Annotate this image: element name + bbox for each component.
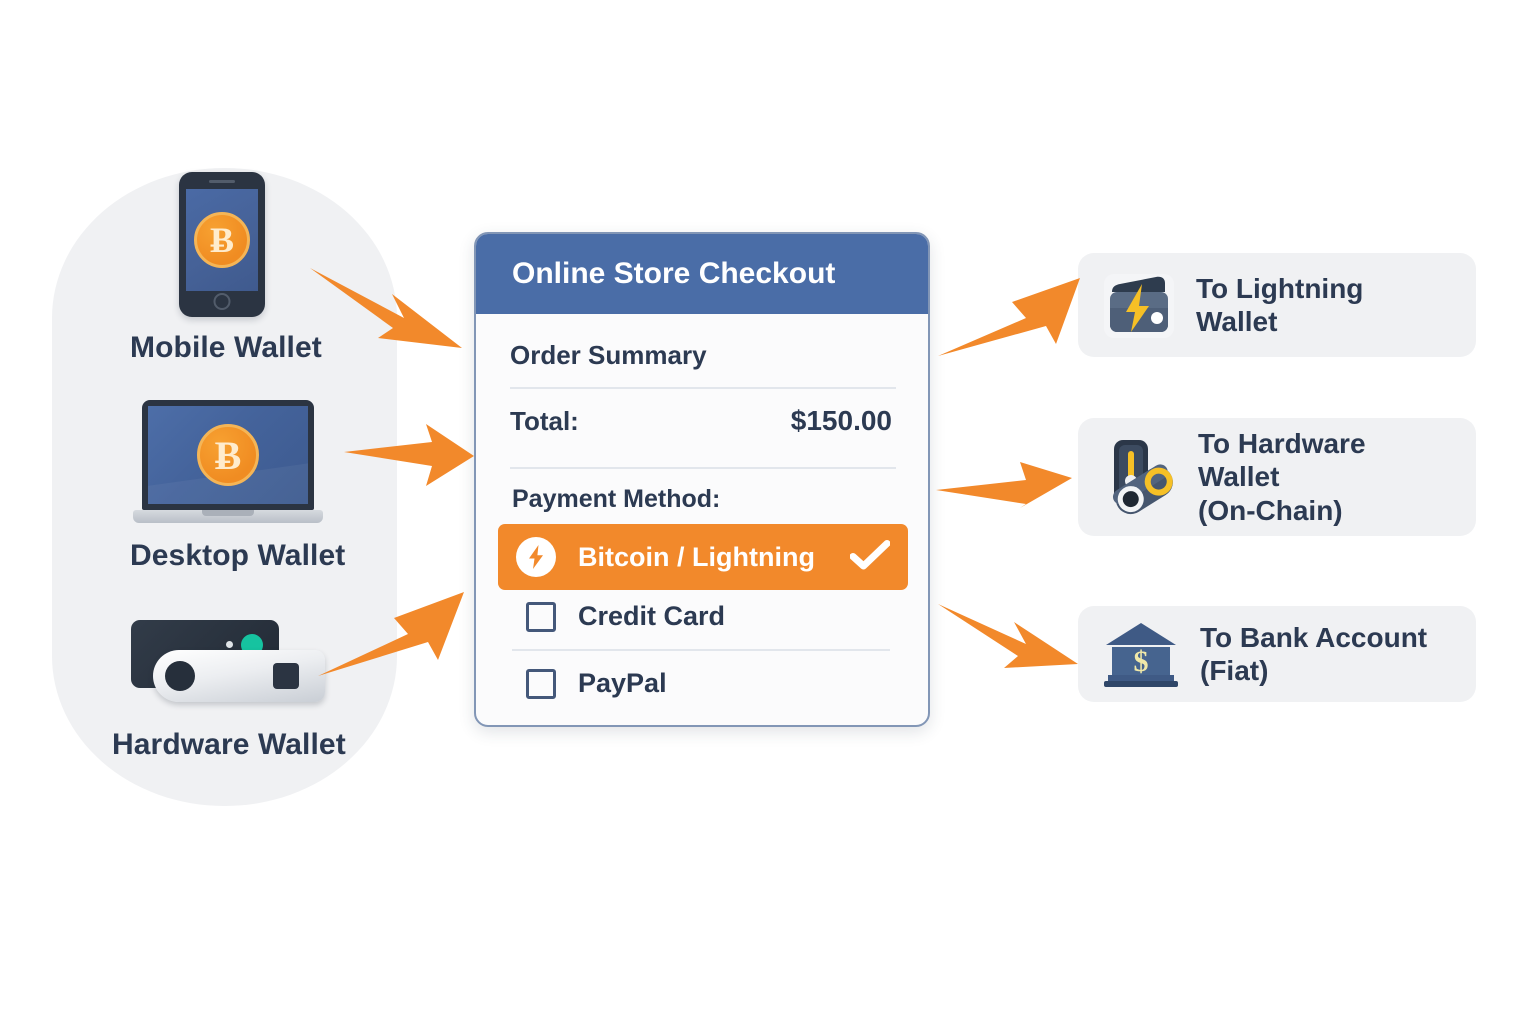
page-title: Online Store Checkout [512, 257, 835, 291]
device-chip [273, 663, 299, 689]
device-indicator-dot [226, 641, 233, 648]
total-label: Total: [510, 406, 579, 437]
source-label-mobile-wallet: Mobile Wallet [130, 331, 314, 365]
laptop-screen: Ƀ [148, 406, 308, 504]
checkout-body: Order Summary Total: $150.00 Payment Met… [476, 314, 928, 710]
order-summary-heading: Order Summary [510, 340, 896, 371]
hardware-wallet-icon [1100, 436, 1180, 518]
arrow-checkout-to-lightning-wallet [938, 278, 1080, 356]
destination-label: To Bank Account (Fiat) [1200, 621, 1450, 687]
payment-option-label: Credit Card [578, 601, 725, 632]
payment-option-label: PayPal [578, 668, 667, 699]
destination-lightning-wallet[interactable]: To Lightning Wallet [1078, 253, 1476, 357]
destination-label-line2: (On-Chain) [1198, 495, 1343, 526]
checkout-card: Online Store Checkout Order Summary Tota… [474, 232, 930, 727]
arrow-checkout-to-bank-account [938, 604, 1078, 668]
phone-home-button [214, 293, 231, 310]
source-label-hardware-wallet: Hardware Wallet [112, 728, 338, 762]
destination-label: To Lightning Wallet [1196, 272, 1450, 338]
destination-bank-account[interactable]: $ To Bank Account (Fiat) [1078, 606, 1476, 702]
laptop-lid: Ƀ [142, 400, 314, 510]
source-hardware-wallet[interactable]: Hardware Wallet [112, 620, 338, 762]
laptop-base [133, 510, 323, 523]
check-icon [850, 540, 890, 575]
source-label-desktop-wallet: Desktop Wallet [130, 539, 326, 573]
laptop-trackpad-notch [202, 510, 254, 516]
checkout-header: Online Store Checkout [476, 234, 928, 314]
source-desktop-wallet[interactable]: Ƀ Desktop Wallet [130, 400, 326, 573]
order-total-row: Total: $150.00 [510, 389, 896, 451]
total-value: $150.00 [791, 405, 892, 437]
arrow-checkout-to-hardware-wallet [936, 462, 1072, 508]
smartphone-bitcoin-icon: Ƀ [179, 172, 265, 317]
destination-hardware-wallet[interactable]: To Hardware Wallet (On-Chain) [1078, 418, 1476, 536]
divider [512, 649, 890, 651]
source-mobile-wallet[interactable]: Ƀ Mobile Wallet [130, 172, 314, 365]
bitcoin-coin-icon: Ƀ [197, 424, 259, 486]
phone-screen: Ƀ [186, 189, 258, 291]
payment-option-credit-card[interactable]: Credit Card [510, 590, 896, 643]
wallet-lightning-icon [1100, 268, 1178, 342]
diagram-canvas: Ƀ Mobile Wallet Ƀ Desktop Wallet [0, 0, 1536, 1024]
payment-option-bitcoin-lightning[interactable]: Bitcoin / Lightning [498, 524, 908, 590]
checkbox-empty-icon[interactable] [526, 602, 556, 632]
svg-text:$: $ [1134, 645, 1149, 678]
device-body [153, 650, 325, 702]
bank-dollar-icon: $ [1100, 619, 1182, 689]
lightning-bolt-icon [516, 537, 556, 577]
destination-label: To Hardware Wallet (On-Chain) [1198, 427, 1450, 526]
laptop-bitcoin-icon: Ƀ [133, 400, 323, 523]
divider [510, 467, 896, 469]
payment-option-label: Bitcoin / Lightning [578, 542, 828, 573]
device-ring [165, 661, 195, 691]
bitcoin-coin-icon: Ƀ [194, 212, 250, 268]
hardware-wallet-device-icon [125, 620, 325, 712]
phone-speaker [209, 180, 235, 183]
checkbox-empty-icon[interactable] [526, 669, 556, 699]
payment-method-label: Payment Method: [512, 485, 896, 514]
destination-label-line1: To Hardware Wallet [1198, 428, 1366, 492]
payment-option-paypal[interactable]: PayPal [510, 657, 896, 710]
